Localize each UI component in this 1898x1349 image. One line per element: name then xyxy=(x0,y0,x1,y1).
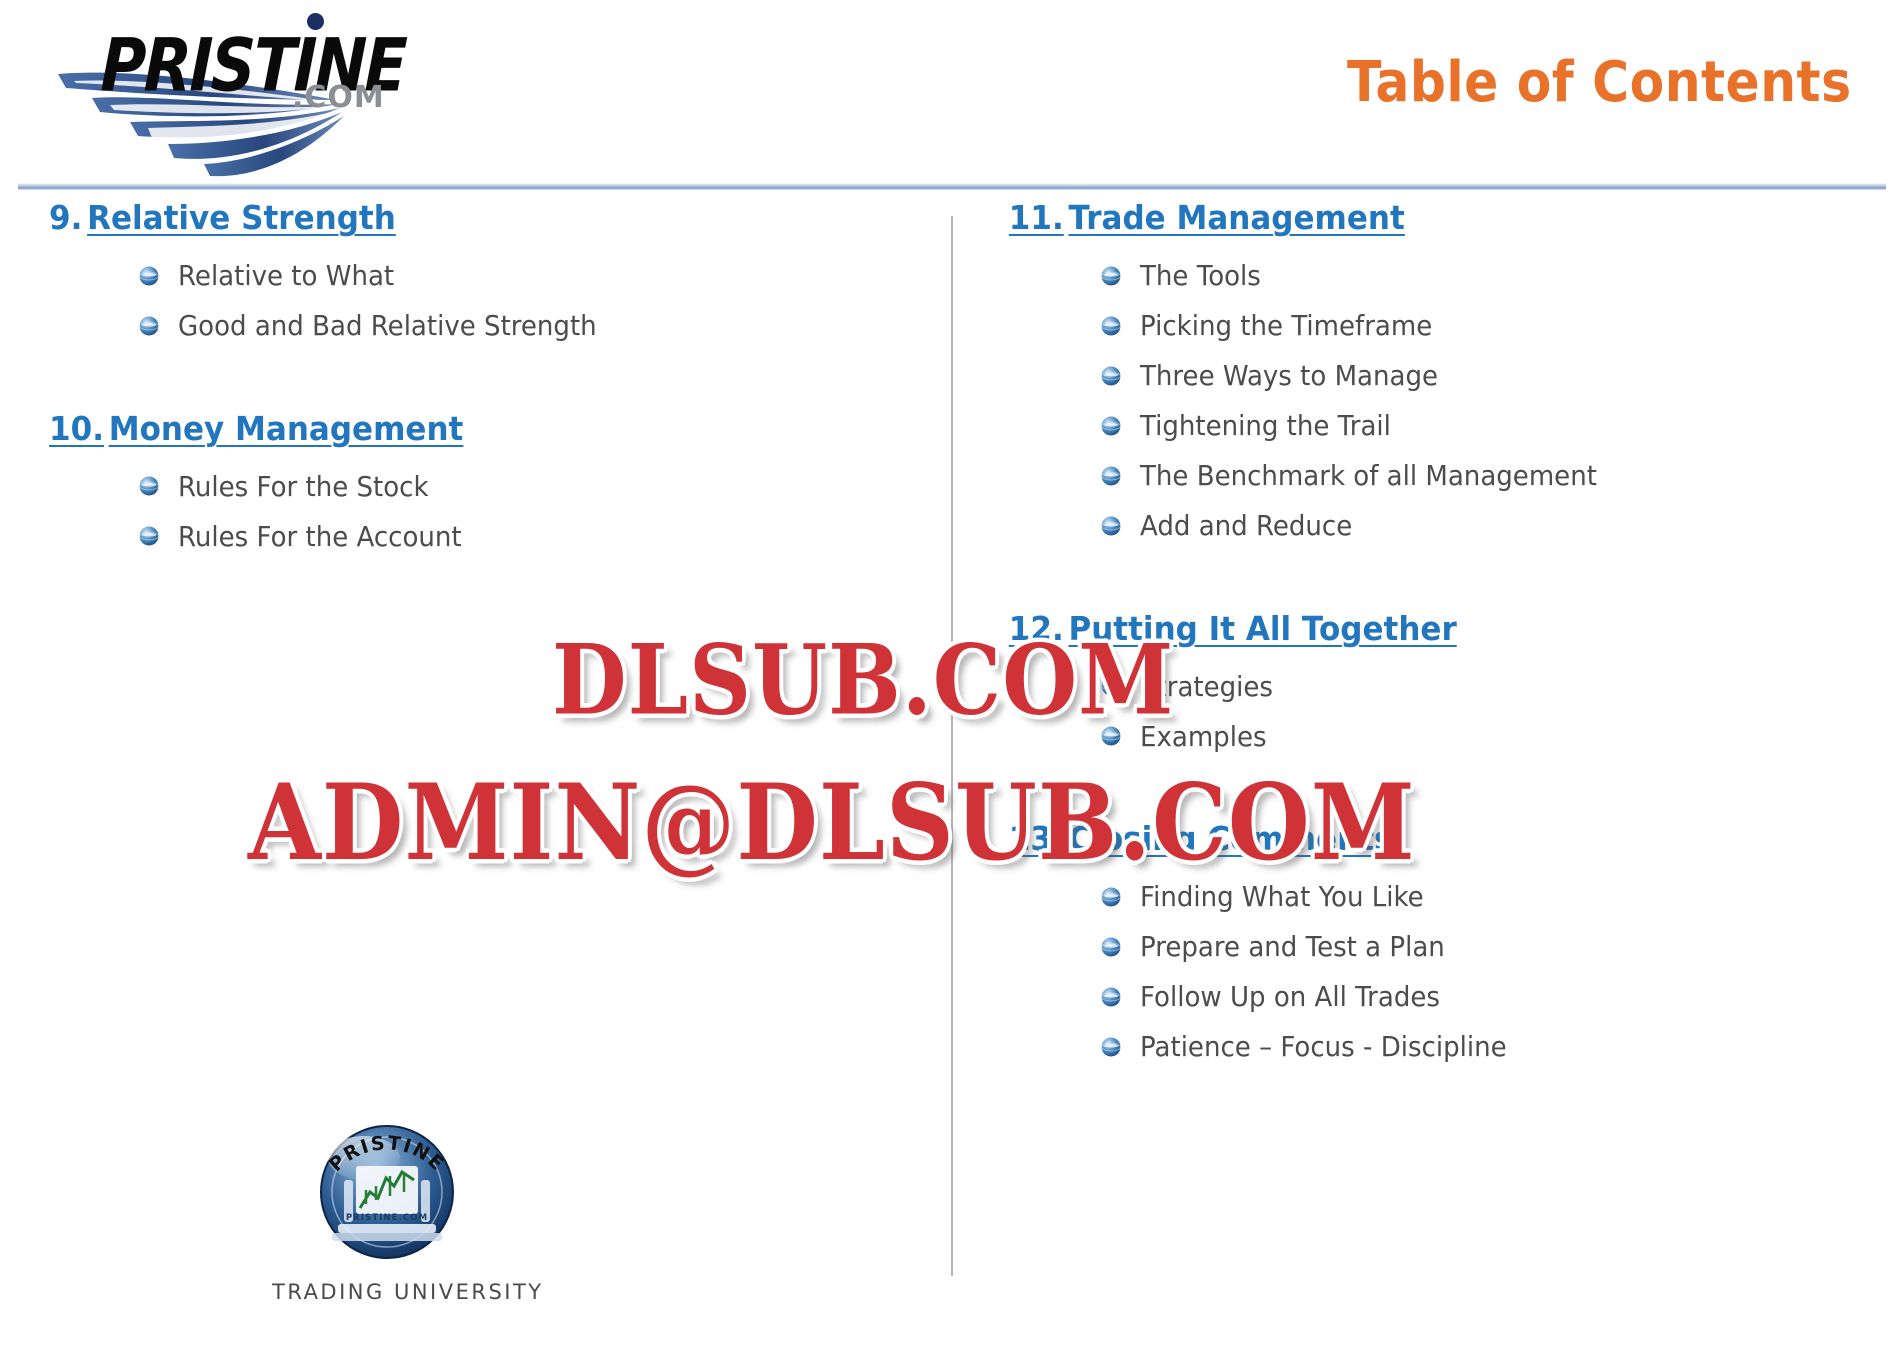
toc-section-10-heading[interactable]: 10.Money Management xyxy=(34,407,880,452)
blue-globe-bullet-icon xyxy=(1100,515,1122,537)
blue-globe-bullet-icon xyxy=(1100,725,1122,747)
list-item[interactable]: Patience – Focus - Discipline xyxy=(990,1022,1870,1072)
toc-section-12-items: Strategies Examples xyxy=(990,661,1870,761)
page-title: Table of Contents xyxy=(1348,50,1852,115)
blue-globe-bullet-icon xyxy=(1100,265,1122,287)
blue-globe-bullet-icon xyxy=(1100,465,1122,487)
toc-section-10: 10.Money Management Rules For the Stock xyxy=(34,407,934,562)
blue-globe-bullet-icon xyxy=(1100,315,1122,337)
toc-section-12-heading[interactable]: 12.Putting It All Together xyxy=(990,607,1817,652)
blue-globe-bullet-icon xyxy=(1100,886,1122,908)
toc-section-10-number: 10. xyxy=(49,409,104,448)
left-column: 9.Relative Strength xyxy=(34,196,934,567)
list-item[interactable]: Examples xyxy=(990,711,1870,761)
list-item[interactable]: Picking the Timeframe xyxy=(990,301,1870,351)
list-item-label: The Benchmark of all Management xyxy=(1140,459,1597,492)
toc-section-12: 12.Putting It All Together Strategies Ex… xyxy=(990,607,1870,762)
column-divider xyxy=(951,216,953,1276)
list-item[interactable]: Prepare and Test a Plan xyxy=(990,922,1870,972)
toc-section-11-items: The Tools Picking the Timeframe Three Wa… xyxy=(990,251,1870,551)
toc-section-13-number: 13. xyxy=(1009,819,1064,858)
header-divider-rule xyxy=(18,183,1886,190)
pristine-university-seal-icon: PRISTINE PRISTINE.COM xyxy=(298,1100,476,1278)
list-item[interactable]: Rules For the Account xyxy=(34,511,934,561)
list-item-label: Add and Reduce xyxy=(1140,509,1352,542)
blue-globe-bullet-icon xyxy=(1100,986,1122,1008)
pristine-logo-dotcom: .COM xyxy=(292,80,385,115)
seal-emblem: PRISTINE PRISTINE.COM xyxy=(298,1100,476,1278)
pristine-university-seal: PRISTINE PRISTINE.COM TRADING UNIVERSITY xyxy=(272,1100,502,1315)
toc-section-10-items: Rules For the Stock Rules For the Accoun… xyxy=(34,461,934,561)
toc-section-9-items: Relative to What Good and Bad Relative S… xyxy=(34,251,934,351)
blue-globe-bullet-icon xyxy=(1100,415,1122,437)
toc-section-11: 11.Trade Management The Tools Picking th… xyxy=(990,196,1870,551)
toc-section-12-number: 12. xyxy=(1009,609,1064,648)
toc-section-9-number: 9. xyxy=(49,198,82,237)
list-item-label: Patience – Focus - Discipline xyxy=(1140,1030,1507,1063)
list-item-label: Finding What You Like xyxy=(1140,880,1424,913)
list-item[interactable]: The Tools xyxy=(990,251,1870,301)
toc-section-11-heading[interactable]: 11.Trade Management xyxy=(990,196,1817,241)
list-item-label: Tightening the Trail xyxy=(1140,409,1391,442)
slide-table-of-contents: PRISTINE .COM Table of Contents 9.Relati… xyxy=(0,0,1898,1349)
toc-section-12-title: Putting It All Together xyxy=(1068,609,1456,648)
blue-globe-bullet-icon xyxy=(1100,936,1122,958)
toc-section-10-title: Money Management xyxy=(109,409,464,448)
blue-globe-bullet-icon xyxy=(1100,1036,1122,1058)
blue-globe-bullet-icon xyxy=(138,475,160,497)
toc-section-9-heading[interactable]: 9.Relative Strength xyxy=(34,196,880,241)
pristine-logo: PRISTINE .COM xyxy=(52,8,472,178)
list-item-label: Picking the Timeframe xyxy=(1140,309,1432,342)
list-item-label: Relative to What xyxy=(178,259,394,292)
blue-globe-bullet-icon xyxy=(138,525,160,547)
toc-section-9-title: Relative Strength xyxy=(87,198,396,237)
list-item[interactable]: Three Ways to Manage xyxy=(990,351,1870,401)
right-column: 11.Trade Management The Tools Picking th… xyxy=(990,196,1870,1078)
list-item-label: Rules For the Stock xyxy=(178,470,429,503)
list-item[interactable]: The Benchmark of all Management xyxy=(990,451,1870,501)
seal-caption: TRADING UNIVERSITY xyxy=(272,1280,502,1304)
list-item[interactable]: Finding What You Like xyxy=(990,872,1870,922)
list-item[interactable]: Relative to What xyxy=(34,251,934,301)
list-item-label: Examples xyxy=(1140,720,1267,753)
toc-section-13-items: Finding What You Like Prepare and Test a… xyxy=(990,872,1870,1072)
slide-header: PRISTINE .COM Table of Contents xyxy=(0,0,1898,190)
list-item[interactable]: Rules For the Stock xyxy=(34,461,934,511)
list-item[interactable]: Add and Reduce xyxy=(990,501,1870,551)
blue-globe-bullet-icon xyxy=(138,265,160,287)
blue-globe-bullet-icon xyxy=(1100,365,1122,387)
list-item[interactable]: Tightening the Trail xyxy=(990,401,1870,451)
list-item-label: Strategies xyxy=(1140,670,1273,703)
list-item-label: Follow Up on All Trades xyxy=(1140,980,1440,1013)
list-item-label: The Tools xyxy=(1140,259,1261,292)
list-item-label: Rules For the Account xyxy=(178,520,462,553)
toc-section-13: 13.Closing Comments Finding What You Lik… xyxy=(990,817,1870,1072)
list-item-label: Good and Bad Relative Strength xyxy=(178,309,597,342)
toc-section-13-heading[interactable]: 13.Closing Comments xyxy=(990,817,1817,862)
svg-text:PRISTINE.COM: PRISTINE.COM xyxy=(346,1213,428,1223)
toc-section-9: 9.Relative Strength xyxy=(34,196,934,351)
list-item[interactable]: Good and Bad Relative Strength xyxy=(34,301,934,351)
blue-globe-bullet-icon xyxy=(138,315,160,337)
toc-section-13-title: Closing Comments xyxy=(1068,819,1392,858)
pristine-logo-dot xyxy=(307,13,324,30)
list-item[interactable]: Follow Up on All Trades xyxy=(990,972,1870,1022)
toc-section-11-title: Trade Management xyxy=(1068,198,1404,237)
list-item[interactable]: Strategies xyxy=(990,661,1870,711)
list-item-label: Prepare and Test a Plan xyxy=(1140,930,1445,963)
blue-globe-bullet-icon xyxy=(1100,675,1122,697)
toc-section-11-number: 11. xyxy=(1009,198,1064,237)
list-item-label: Three Ways to Manage xyxy=(1140,359,1438,392)
